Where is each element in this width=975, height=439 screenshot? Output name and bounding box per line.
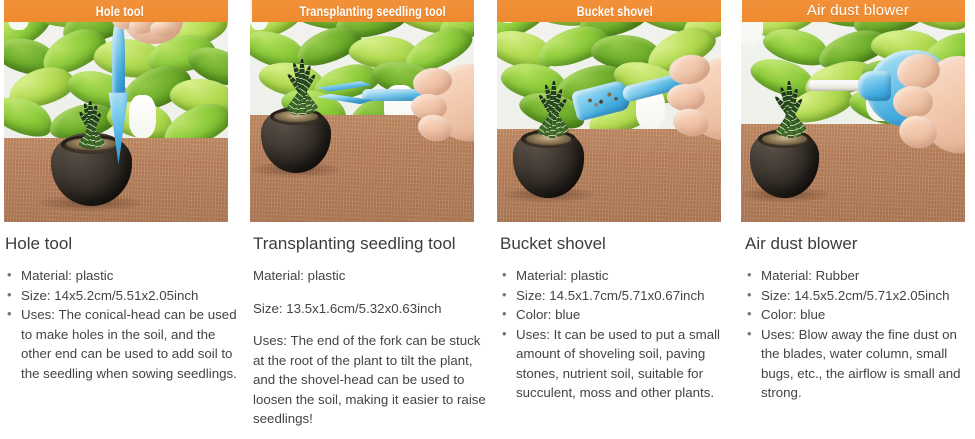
spec-paragraph: Uses: The end of the fork can be stuck a… (253, 331, 489, 429)
panel-banner-bucket-shovel: Bucket shovel (497, 0, 721, 22)
hand (893, 49, 965, 173)
list-item: Uses: It can be used to put a small amou… (500, 325, 734, 403)
product-image-hole-tool: Hole tool (4, 0, 228, 222)
list-item: Size: 14.5x5.2cm/5.71x2.05inch (745, 286, 969, 306)
product-image-air-dust-blower: Air dust blower (741, 0, 965, 222)
panel-banner-hole-tool: Hole tool (4, 0, 228, 22)
banner-label: Bucket shovel (577, 4, 653, 18)
product-panel-hole-tool: Hole tool Hole tool Material: plastic Si… (0, 0, 248, 439)
plant-pot (513, 129, 585, 198)
product-title: Hole tool (5, 234, 242, 254)
list-item: Uses: The conical-head can be used to ma… (5, 305, 242, 383)
banner-label: Transplanting seedling tool (300, 4, 446, 18)
list-item: Color: blue (500, 305, 734, 325)
spec-paragraph: Size: 13.5x1.6cm/5.32x0.63inch (253, 299, 489, 319)
spec-paragraph: Material: plastic (253, 266, 489, 286)
plant-pot (261, 107, 330, 174)
panel-banner-transplanting-seedling-tool: Transplanting seedling tool (252, 0, 474, 22)
list-item: Uses: Blow away the fine dust on the bla… (745, 325, 969, 403)
product-title: Bucket shovel (500, 234, 734, 254)
hand (411, 58, 474, 165)
product-title: Air dust blower (745, 234, 969, 254)
product-image-bucket-shovel: Bucket shovel (497, 0, 721, 222)
product-panel-transplanting-seedling-tool: Transplanting seedling tool Transplantin… (248, 0, 495, 439)
list-item: Material: plastic (5, 266, 242, 286)
list-item: Size: 14.5x1.7cm/5.71x0.67inch (500, 286, 734, 306)
product-feature-grid: Hole tool Hole tool Material: plastic Si… (0, 0, 975, 439)
product-panel-air-dust-blower: Air dust blower Air dust blower Material… (740, 0, 975, 439)
product-panel-bucket-shovel: Bucket shovel Bucket shovel Material: pl… (495, 0, 740, 439)
list-item: Material: plastic (500, 266, 734, 286)
list-item: Size: 14x5.2cm/5.51x2.05inch (5, 286, 242, 306)
product-title: Transplanting seedling tool (253, 234, 489, 254)
spec-list: Material: plastic Size: 14x5.2cm/5.51x2.… (5, 266, 242, 383)
banner-label: Air dust blower (807, 4, 909, 18)
product-image-transplanting-seedling-tool: Transplanting seedling tool (250, 0, 474, 222)
spec-list: Material: plastic Size: 14.5x1.7cm/5.71x… (500, 266, 734, 403)
panel-banner-air-dust-blower: Air dust blower (742, 0, 965, 22)
banner-label: Hole tool (96, 4, 144, 18)
list-item: Color: blue (745, 305, 969, 325)
spec-list: Material: Rubber Size: 14.5x5.2cm/5.71x2… (745, 266, 969, 403)
plant-pot (750, 129, 819, 198)
hand (667, 49, 721, 160)
list-item: Material: Rubber (745, 266, 969, 286)
